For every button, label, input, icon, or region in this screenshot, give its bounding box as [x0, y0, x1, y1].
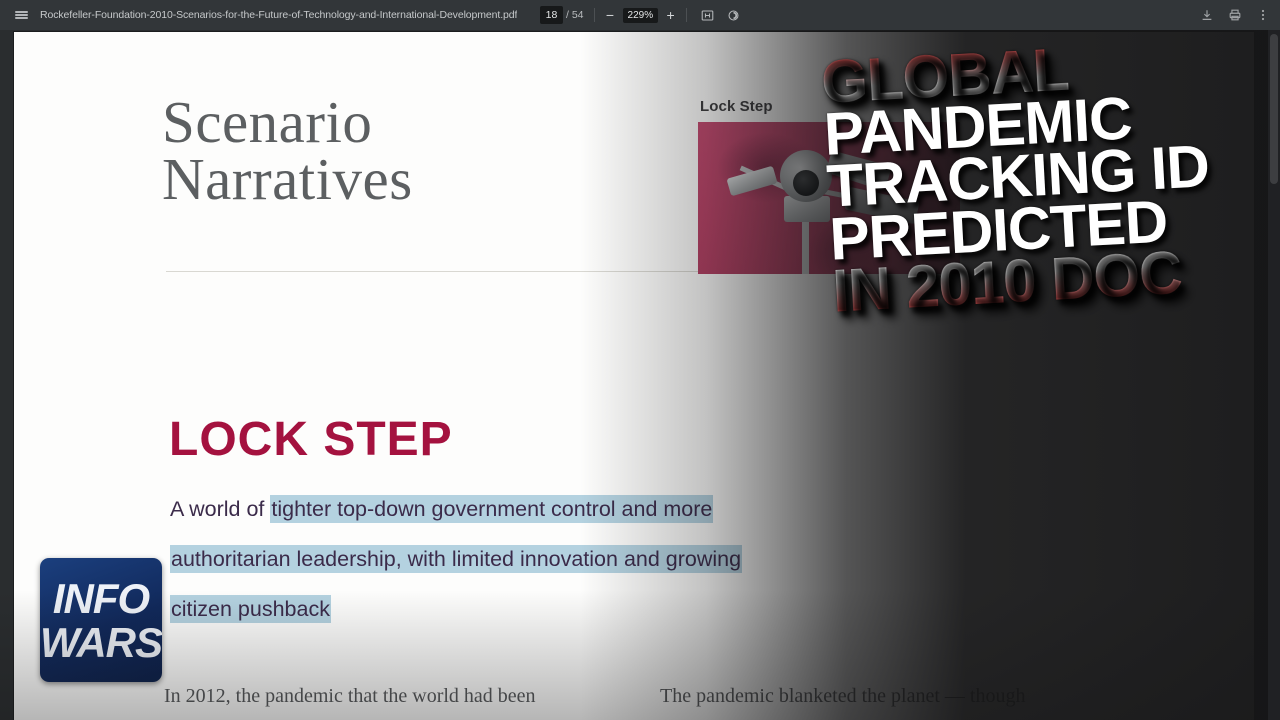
lead-highlight-3: citizen pushback: [170, 595, 331, 623]
scenario-heading: LOCK STEP: [169, 412, 453, 467]
page-title-line2: Narratives: [162, 151, 413, 208]
body-column-left: In 2012, the pandemic that the world had…: [164, 680, 594, 720]
page-controls: 18 / 54 − 229% +: [540, 0, 746, 30]
toolbar-divider: [686, 8, 687, 22]
infowars-logo: INFO WARS: [40, 558, 162, 682]
rotate-icon[interactable]: [720, 3, 746, 27]
toolbar-right-tools: [1194, 0, 1276, 30]
pdf-page: Scenario Narratives Lock Step: [14, 32, 1254, 720]
scrollbar-thumb[interactable]: [1270, 34, 1278, 184]
body-column-right: The pandemic blanketed the planet — thou…: [660, 680, 1090, 720]
toolbar-divider: [594, 8, 595, 22]
pdf-page-content: Scenario Narratives Lock Step: [14, 32, 1254, 720]
hamburger-menu-icon[interactable]: [8, 3, 34, 27]
download-icon[interactable]: [1194, 3, 1220, 27]
scenario-lead-text: A world of tighter top-down government c…: [170, 484, 870, 634]
pdf-viewer-scroll-area[interactable]: Scenario Narratives Lock Step: [0, 30, 1280, 720]
zoom-in-button[interactable]: +: [662, 7, 679, 24]
lead-highlight-2: authoritarian leadership, with limited i…: [170, 545, 742, 573]
infowars-logo-line1: INFO: [40, 578, 162, 620]
lead-prefix: A world of: [170, 497, 270, 521]
hamburger-bar: [15, 17, 28, 19]
camera-lens: [793, 170, 819, 196]
security-cameras-photo: [698, 122, 960, 274]
vertical-scrollbar[interactable]: [1268, 30, 1280, 720]
pdf-toolbar: Rockefeller-Foundation-2010-Scenarios-fo…: [0, 0, 1280, 30]
print-icon[interactable]: [1222, 3, 1248, 27]
page-title: Scenario Narratives: [162, 94, 413, 208]
more-options-icon[interactable]: [1250, 3, 1276, 27]
document-title: Rockefeller-Foundation-2010-Scenarios-fo…: [40, 9, 517, 21]
camera-unit: [844, 187, 919, 224]
photo-caption: Lock Step: [700, 98, 773, 115]
title-divider: [166, 271, 710, 272]
zoom-out-button[interactable]: −: [602, 7, 619, 24]
lead-highlight-1: tighter top-down government control and …: [270, 495, 713, 523]
pdf-viewer-window: Rockefeller-Foundation-2010-Scenarios-fo…: [0, 0, 1280, 720]
hamburger-bar: [15, 11, 28, 13]
page-title-line1: Scenario: [162, 94, 413, 151]
infowars-logo-line2: WARS: [40, 622, 162, 664]
fit-page-icon[interactable]: [694, 3, 720, 27]
hamburger-bar: [15, 14, 28, 16]
page-total-label: / 54: [566, 9, 584, 21]
current-page-input[interactable]: 18: [540, 6, 563, 24]
zoom-level-display[interactable]: 229%: [623, 8, 659, 23]
